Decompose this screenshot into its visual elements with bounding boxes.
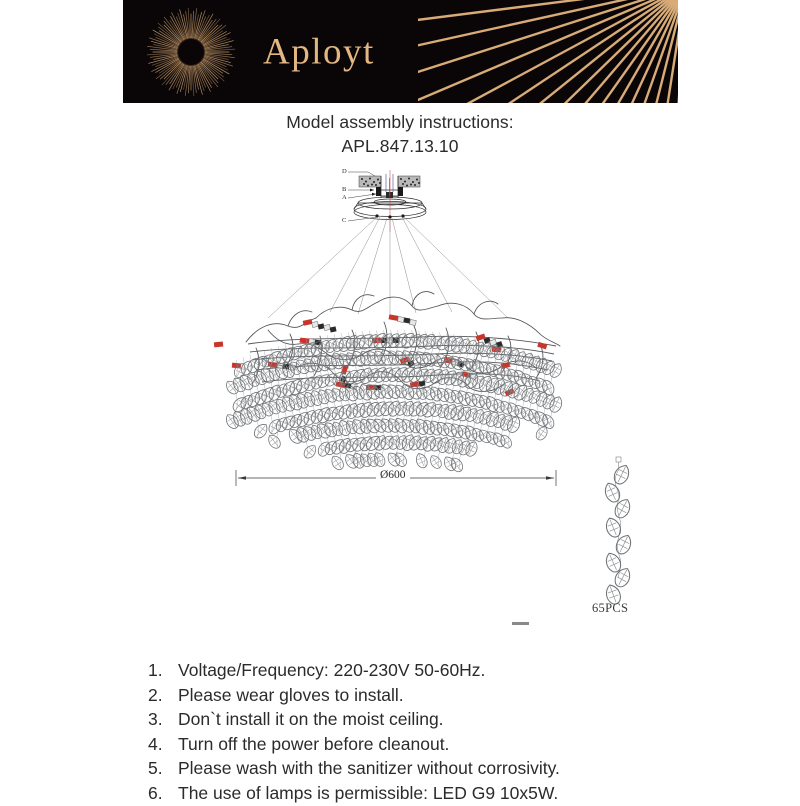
lamp-socket (366, 385, 381, 391)
list-item: 4. Turn off the power before cleanout. (148, 732, 748, 757)
lamp-socket (303, 319, 337, 333)
callout-label-d: D (342, 168, 347, 175)
list-item-text: Please wash with the sanitizer without c… (178, 756, 748, 781)
list-item-number: 5. (148, 756, 178, 781)
canopy-cup (354, 197, 426, 220)
suspension-cables (268, 217, 508, 318)
corner-rays-decoration (418, 0, 678, 103)
crystal-strand-part (602, 457, 634, 606)
brand-wordmark: Aployt (263, 30, 375, 73)
lamp-socket (340, 365, 348, 383)
frame-rods (248, 336, 556, 382)
lamp-socket (214, 341, 223, 347)
title-line-2: APL.847.13.10 (0, 134, 800, 158)
screw-set (386, 174, 393, 196)
lamp-sockets (214, 314, 548, 396)
list-item-text: Please wear gloves to install. (178, 683, 748, 708)
lamp-socket (537, 342, 547, 350)
callout-label-a: A (342, 194, 347, 201)
mounting-bracket (376, 176, 403, 198)
list-item-number: 4. (148, 732, 178, 757)
lamp-socket (476, 334, 503, 348)
lamp-socket (389, 314, 417, 325)
lamp-socket (336, 381, 358, 389)
list-item: 6. The use of lamps is permissible: LED … (148, 781, 748, 806)
list-item: 5. Please wash with the sanitizer withou… (148, 756, 748, 781)
lamp-socket (232, 363, 241, 369)
banner-background: unused Aployt (123, 0, 678, 103)
list-item-number: 1. (148, 658, 178, 683)
list-item: 3. Don`t install it on the moist ceiling… (148, 707, 748, 732)
list-item-number: 6. (148, 781, 178, 806)
lamp-socket (400, 356, 421, 368)
title-line-1: Model assembly instructions: (0, 110, 800, 134)
strand-leaf-group (602, 463, 634, 607)
lamp-socket (505, 388, 515, 396)
ceiling-mount-detail (348, 170, 426, 232)
list-item-number: 2. (148, 683, 178, 708)
lamp-socket (501, 362, 511, 369)
instruction-list: 1. Voltage/Frequency: 220-230V 50-60Hz. … (148, 658, 748, 806)
list-item-text: The use of lamps is permissible: LED G9 … (178, 781, 748, 806)
list-item-number: 3. (148, 707, 178, 732)
dimension-line (236, 292, 556, 486)
callout-leader-lines (348, 172, 378, 221)
ceiling-slab (359, 176, 420, 187)
chandelier-assembly (214, 292, 565, 474)
callout-label-c: C (342, 217, 346, 224)
lamp-socket (300, 338, 321, 346)
lamp-socket (461, 371, 476, 379)
page-title: Model assembly instructions: APL.847.13.… (0, 110, 800, 158)
list-item-text: Don`t install it on the moist ceiling. (178, 707, 748, 732)
cable-anchors (375, 214, 404, 218)
lamp-socket (492, 347, 501, 353)
list-item-text: Turn off the power before cleanout. (178, 732, 748, 757)
callout-label-b: B (342, 186, 346, 193)
lamp-socket (372, 338, 399, 343)
part-quantity-label: 65PCS (592, 601, 628, 616)
branch-structure (246, 292, 560, 392)
scale-dash-mark (512, 622, 529, 625)
lamp-socket (268, 361, 296, 370)
lamp-socket (443, 357, 464, 368)
crystal-leaf-field (223, 330, 564, 474)
sunburst-logo-icon: unused (143, 4, 239, 100)
lamp-socket (410, 381, 426, 388)
list-item-text: Voltage/Frequency: 220-230V 50-60Hz. (178, 658, 748, 683)
list-item: 1. Voltage/Frequency: 220-230V 50-60Hz. (148, 658, 748, 683)
brand-banner: unused Aployt (123, 0, 678, 103)
list-item: 2. Please wear gloves to install. (148, 683, 748, 708)
diameter-dimension-label: Ø600 (376, 469, 410, 481)
